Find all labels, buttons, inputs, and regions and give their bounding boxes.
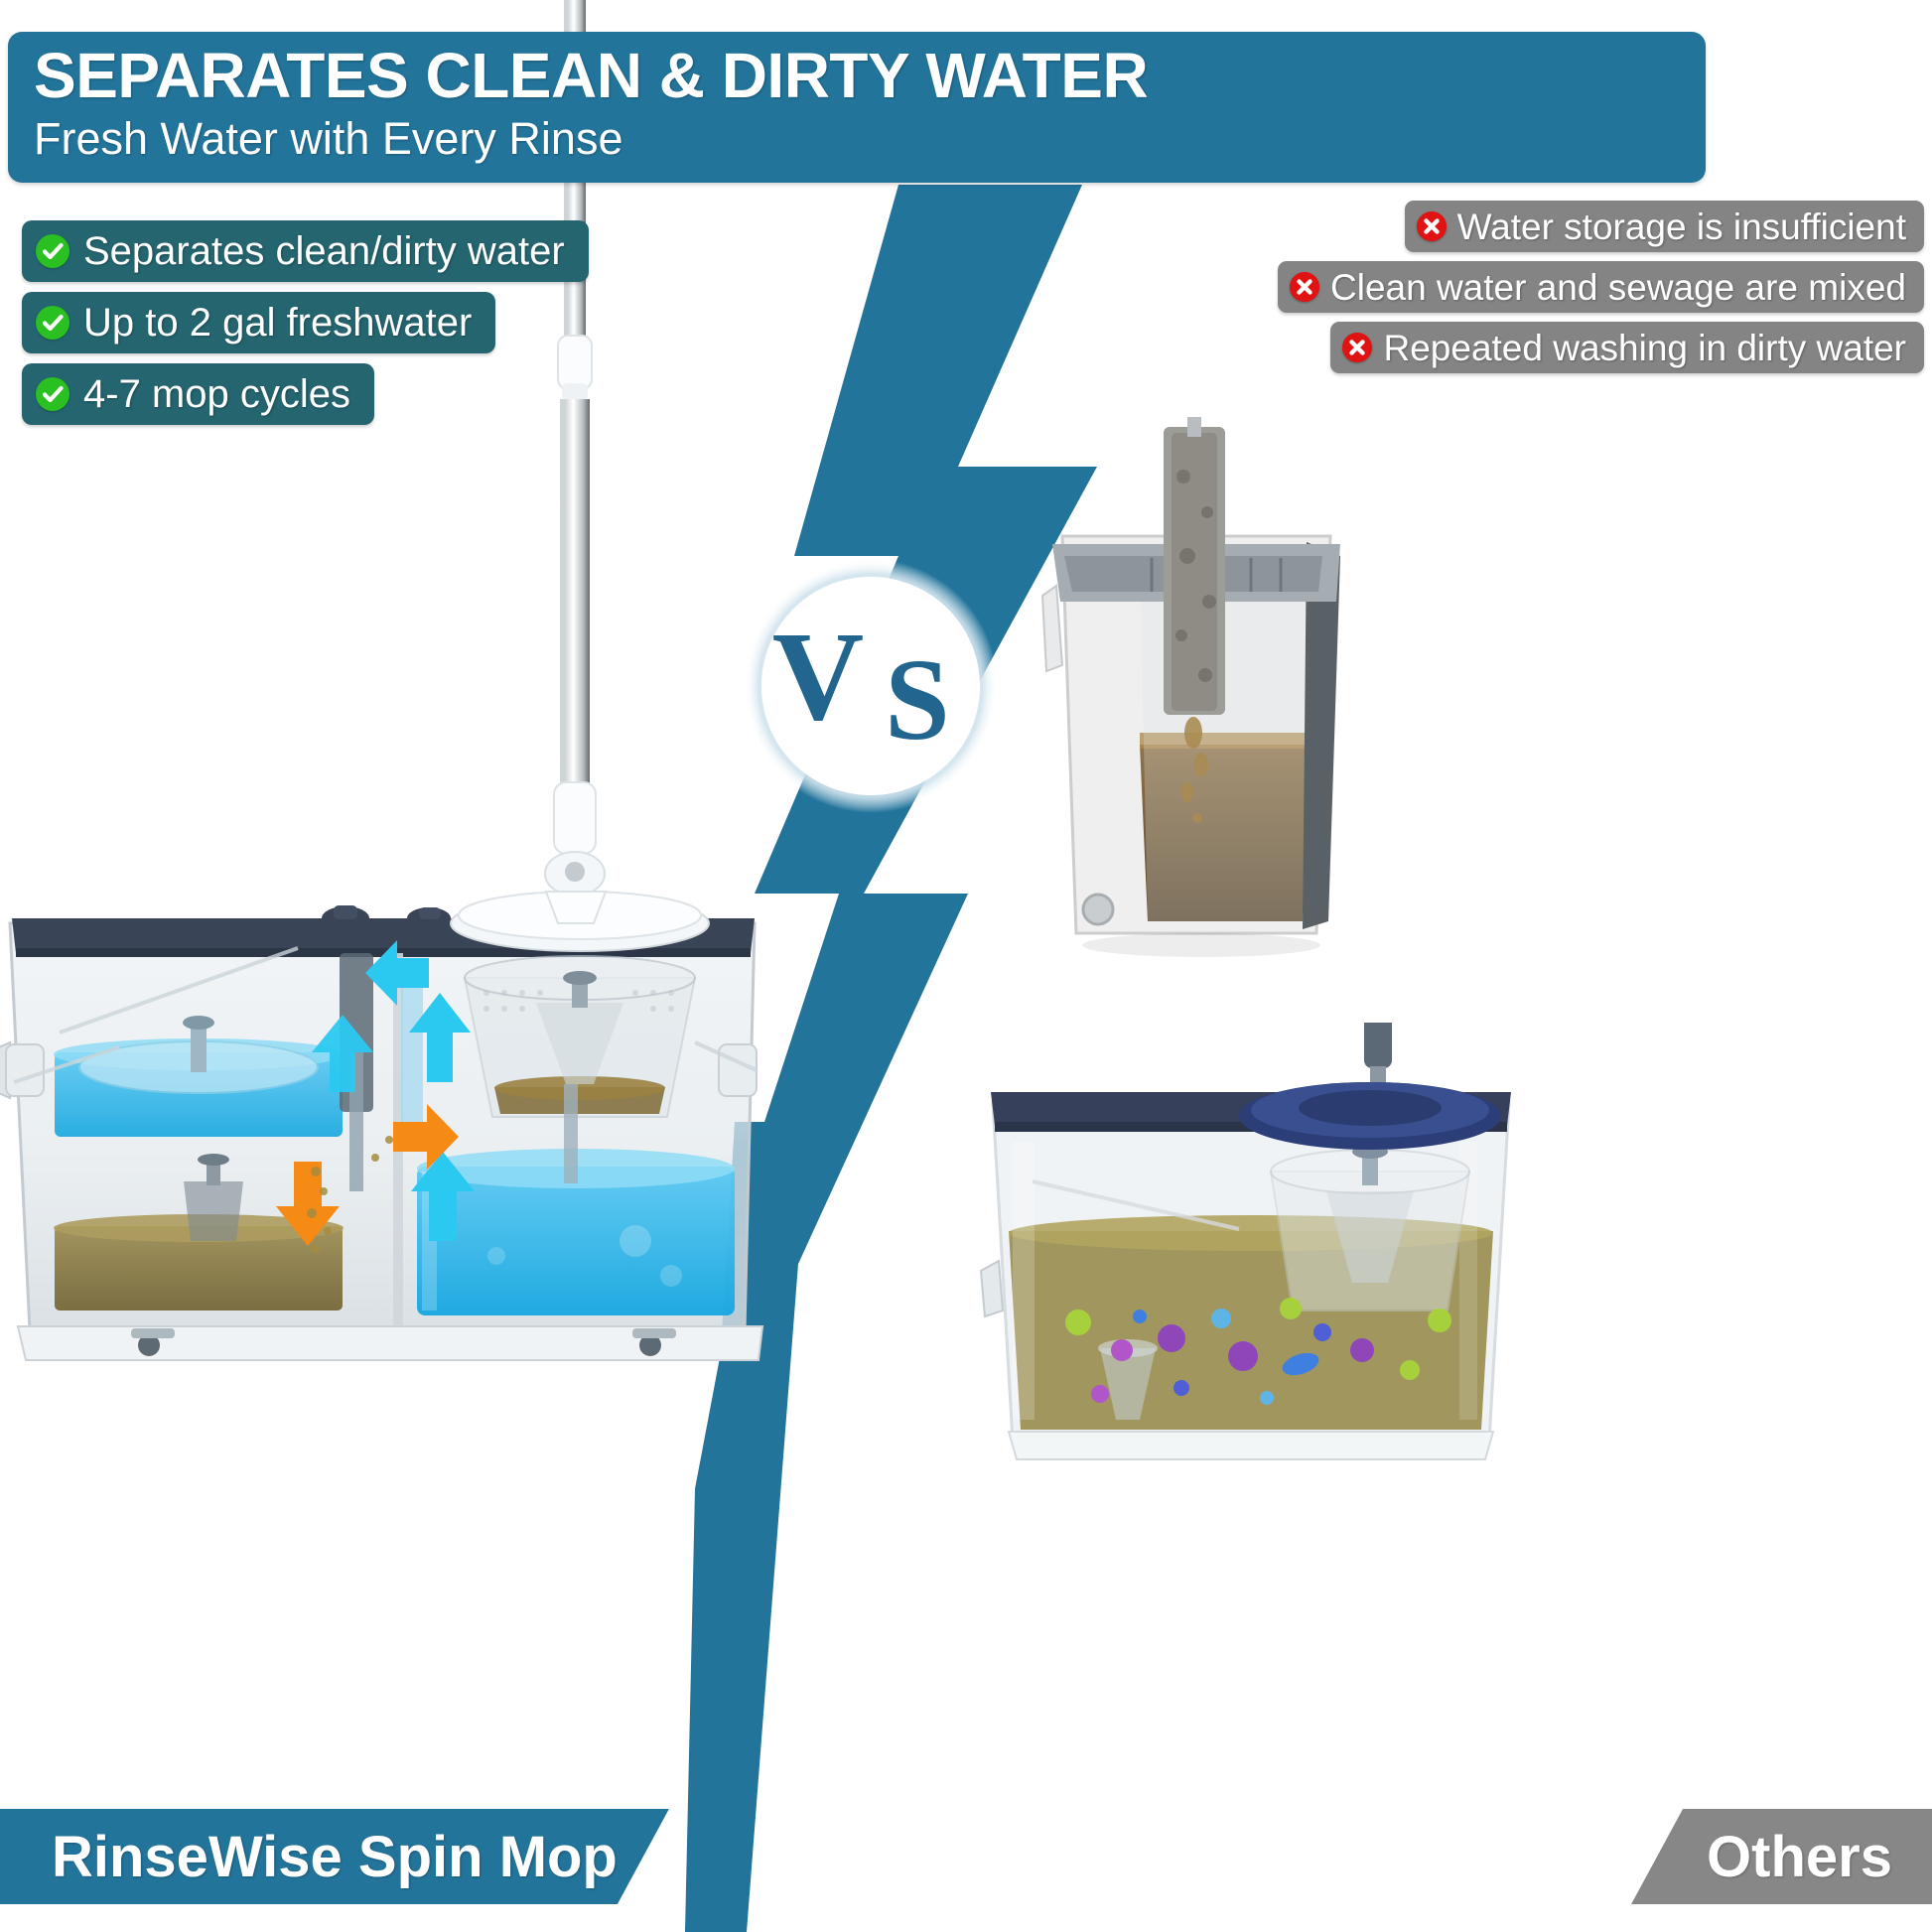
- header-banner: SEPARATES CLEAN & DIRTY WATER Fresh Wate…: [8, 32, 1706, 183]
- x-circle-icon: [1342, 333, 1372, 362]
- check-circle-icon: [36, 306, 69, 340]
- page-subtitle: Fresh Water with Every Rinse: [34, 112, 1680, 166]
- infographic-canvas: SEPARATES CLEAN & DIRTY WATER Fresh Wate…: [0, 0, 1932, 1932]
- list-item: Water storage is insufficient: [1405, 201, 1924, 252]
- list-item: 4-7 mop cycles: [22, 363, 374, 425]
- list-item-label: 4-7 mop cycles: [83, 374, 350, 414]
- footer-label-right: Others: [1631, 1809, 1932, 1904]
- list-item-label: Up to 2 gal freshwater: [83, 303, 472, 343]
- list-item-label: Repeated washing in dirty water: [1383, 330, 1906, 366]
- footer-right-text: Others: [1707, 1824, 1892, 1890]
- list-item: Separates clean/dirty water: [22, 220, 589, 282]
- list-item: Repeated washing in dirty water: [1330, 322, 1924, 373]
- page-title: SEPARATES CLEAN & DIRTY WATER: [34, 44, 1680, 108]
- x-circle-icon: [1290, 272, 1319, 302]
- versus-badge: V S: [743, 558, 999, 814]
- list-item-label: Separates clean/dirty water: [83, 231, 565, 271]
- footer-label-left: RinseWise Spin Mop: [0, 1809, 669, 1904]
- x-circle-icon: [1417, 211, 1447, 241]
- single-chamber-spin-bucket-with-germs: [973, 1023, 1529, 1469]
- flat-mop-bucket-dirty-water: [1013, 417, 1370, 973]
- list-item: Clean water and sewage are mixed: [1278, 261, 1924, 313]
- pros-list: Separates clean/dirty water Up to 2 gal …: [22, 220, 589, 435]
- list-item-label: Water storage is insufficient: [1457, 208, 1906, 245]
- list-item-label: Clean water and sewage are mixed: [1330, 269, 1906, 306]
- check-circle-icon: [36, 377, 69, 411]
- dual-chamber-spin-mop-bucket-illustration: [0, 0, 794, 1440]
- footer-left-text: RinseWise Spin Mop: [52, 1824, 618, 1890]
- list-item: Up to 2 gal freshwater: [22, 292, 495, 353]
- versus-letter-s: S: [885, 634, 950, 764]
- cons-list: Water storage is insufficient Clean wate…: [1278, 201, 1924, 382]
- check-circle-icon: [36, 234, 69, 268]
